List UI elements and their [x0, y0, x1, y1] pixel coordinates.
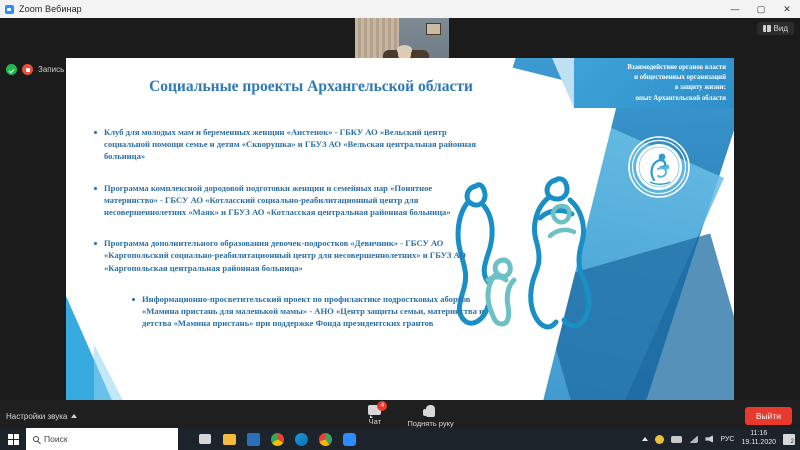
- chevron-up-icon: [71, 414, 77, 418]
- zoom-taskbar-icon[interactable]: [338, 428, 360, 450]
- hand-icon: [426, 405, 435, 417]
- mother-and-child-emblem: [628, 136, 690, 198]
- tray-network-icon[interactable]: [689, 435, 698, 443]
- chat-label: Чат: [369, 417, 381, 426]
- bullet-text: Информационно-просветительский проект по…: [142, 293, 502, 330]
- file-explorer-icon[interactable]: [218, 428, 240, 450]
- header-line-0: Взаимодействие органов власти: [578, 63, 726, 73]
- raise-hand-label: Поднять руку: [407, 419, 453, 428]
- zoom-icon: [5, 5, 14, 14]
- tray-language[interactable]: РУС: [720, 436, 734, 443]
- window-controls: — ▢ ✕: [722, 0, 800, 18]
- bullet-item: Программа комплексной дородовой подготов…: [94, 182, 476, 219]
- taskbar-apps: [194, 428, 360, 450]
- notifications-button[interactable]: 2: [783, 434, 795, 445]
- notifications-count: 2: [791, 439, 794, 445]
- bullet-text: Клуб для молодых мам и беременных женщин…: [104, 126, 476, 163]
- recording-label: Запись: [38, 65, 64, 74]
- shield-check-icon[interactable]: [6, 64, 17, 75]
- bullet-text: Программа дополнительного образования де…: [104, 237, 476, 274]
- header-line-3: опыт Архангельской области: [578, 94, 726, 104]
- windows-taskbar: Поиск: [0, 428, 800, 450]
- clock-time: 11:16: [741, 430, 776, 439]
- task-view-icon[interactable]: [194, 428, 216, 450]
- maximize-button[interactable]: ▢: [748, 0, 774, 18]
- view-button[interactable]: Вид: [757, 22, 794, 35]
- chat-button[interactable]: 4 Чат: [368, 405, 381, 428]
- view-button-label: Вид: [774, 24, 788, 33]
- bullet-dot-icon: [132, 298, 135, 301]
- search-icon: [33, 436, 39, 442]
- bullet-dot-icon: [94, 187, 97, 190]
- tray-volume-icon[interactable]: [705, 435, 713, 443]
- raise-hand-button[interactable]: Поднять руку: [407, 405, 453, 428]
- grid-icon: [763, 25, 771, 32]
- bullet-item: Программа дополнительного образования де…: [94, 237, 476, 274]
- windows-logo-icon: [8, 434, 19, 445]
- bullet-item: Информационно-просветительский проект по…: [132, 293, 502, 330]
- minimize-button[interactable]: —: [722, 0, 748, 18]
- chat-icon: 4: [368, 405, 381, 415]
- slide-title: Социальные проекты Архангельской области: [66, 78, 556, 96]
- tray-expand-icon[interactable]: [642, 437, 648, 441]
- person-hair: [397, 45, 412, 54]
- chrome-canary-icon[interactable]: [314, 428, 336, 450]
- header-line-2: в защиту жизни:: [578, 83, 726, 93]
- slide-bullet-list: Клуб для молодых мам и беременных женщин…: [94, 126, 476, 348]
- bullet-text: Программа комплексной дородовой подготов…: [104, 182, 476, 219]
- start-button[interactable]: [0, 428, 26, 450]
- slide-header-panel: Взаимодействие органов власти и обществе…: [574, 58, 734, 108]
- audio-settings-button[interactable]: Настройки звука: [6, 412, 77, 421]
- audio-settings-label: Настройки звука: [6, 412, 67, 421]
- zoom-webinar-window: Zoom Вебинар — ▢ ✕ Вид Молканова Елен…: [0, 0, 800, 450]
- toolbar-center-group: 4 Чат Поднять руку: [368, 405, 453, 428]
- leave-meeting-button[interactable]: Выйти: [745, 407, 792, 425]
- header-line-1: и общественных организаций: [578, 73, 726, 83]
- window-titlebar: Zoom Вебинар — ▢ ✕: [0, 0, 800, 18]
- tray-battery-icon[interactable]: [671, 436, 682, 443]
- taskbar-clock[interactable]: 11:16 19.11.2020: [741, 430, 776, 448]
- bullet-dot-icon: [94, 131, 97, 134]
- picture-frame-decor: [426, 23, 441, 35]
- search-input[interactable]: Поиск: [26, 428, 178, 450]
- chrome-icon[interactable]: [266, 428, 288, 450]
- office-icon[interactable]: [242, 428, 264, 450]
- shared-slide: Взаимодействие органов власти и обществе…: [66, 58, 734, 414]
- meeting-stage: Вид Молканова Елен… Запись LIVE на YouTu…: [0, 18, 800, 432]
- chat-unread-badge: 4: [377, 401, 387, 411]
- close-button[interactable]: ✕: [774, 0, 800, 18]
- clock-date: 19.11.2020: [741, 439, 776, 448]
- edge-icon[interactable]: [290, 428, 312, 450]
- window-title: Zoom Вебинар: [19, 4, 82, 14]
- bullet-item: Клуб для молодых мам и беременных женщин…: [94, 126, 476, 163]
- bullet-dot-icon: [94, 242, 97, 245]
- tray-icon-1[interactable]: [655, 435, 664, 444]
- system-tray: РУС 11:16 19.11.2020 2: [642, 430, 800, 448]
- search-placeholder: Поиск: [44, 434, 68, 444]
- stop-recording-icon[interactable]: [22, 64, 33, 75]
